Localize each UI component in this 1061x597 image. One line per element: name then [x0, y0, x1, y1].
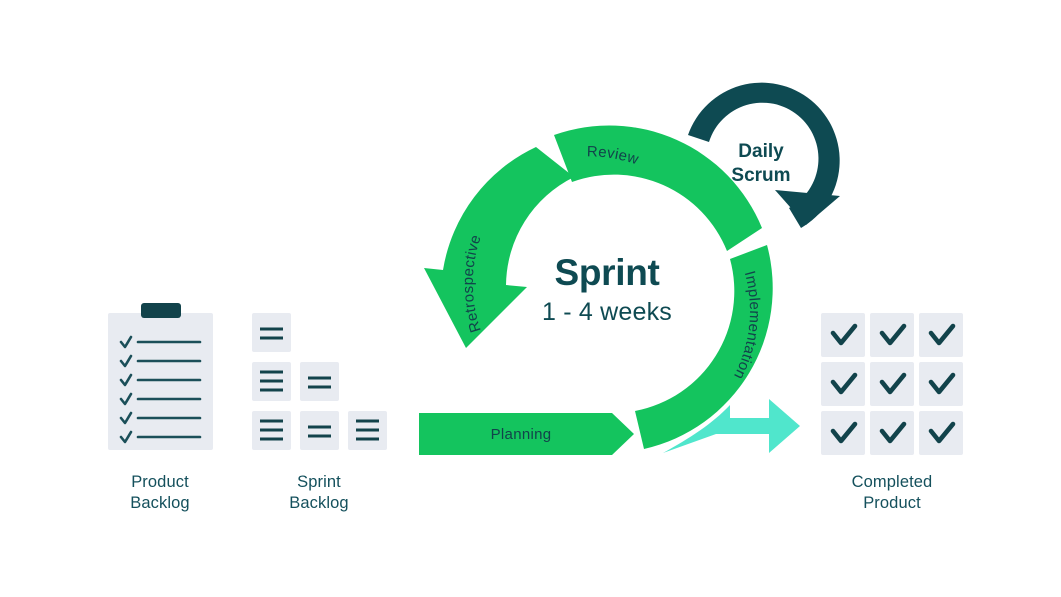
sprint-backlog-card: [252, 362, 291, 401]
completed-check-cell: [919, 411, 963, 455]
completed-product-caption: Completed Product: [792, 472, 992, 514]
completed-check-cell: [919, 362, 963, 406]
completed-check-cell: [821, 411, 865, 455]
sprint-center-text: Sprint 1 - 4 weeks: [487, 252, 727, 328]
completed-check-cell: [870, 362, 914, 406]
completed-check-cell: [919, 313, 963, 357]
completed-check-cell: [870, 313, 914, 357]
sprint-backlog-card: [300, 362, 339, 401]
sprint-backlog-caption: Sprint Backlog: [219, 472, 419, 514]
completed-product-group: [821, 313, 963, 455]
planning-label: Planning: [491, 426, 552, 443]
sprint-backlog-card: [252, 411, 291, 450]
daily-scrum-label: Daily Scrum: [700, 140, 822, 188]
sprint-backlog-card: [348, 411, 387, 450]
sprint-backlog-card: [300, 411, 339, 450]
scrum-diagram: Review Retrospective Implementation Plan…: [0, 0, 1061, 597]
product-backlog-group: [108, 303, 213, 450]
sprint-title: Sprint: [487, 252, 727, 294]
clipboard-clip: [141, 303, 181, 318]
sprint-backlog-card: [252, 313, 291, 352]
completed-check-cell: [821, 362, 865, 406]
completed-check-cell: [821, 313, 865, 357]
completed-check-cell: [870, 411, 914, 455]
sprint-backlog-group: [252, 313, 387, 450]
sprint-duration: 1 - 4 weeks: [487, 296, 727, 328]
